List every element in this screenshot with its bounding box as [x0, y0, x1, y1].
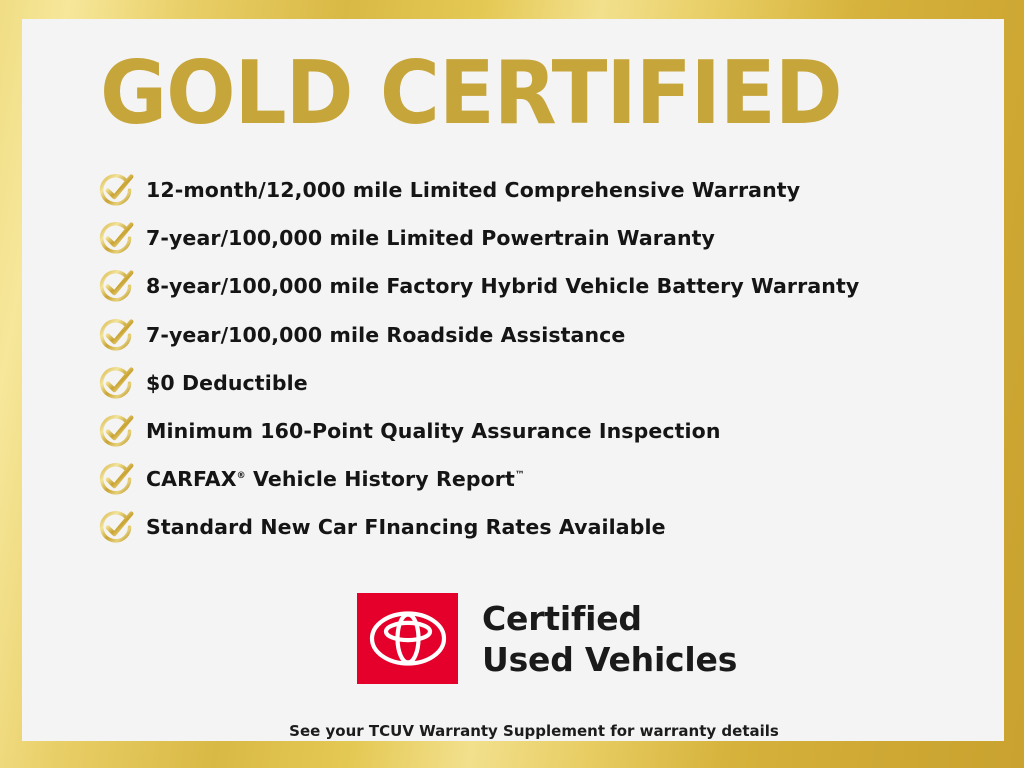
check-circle-icon [96, 507, 136, 547]
feature-row: $0 Deductible [96, 359, 996, 407]
check-circle-icon [96, 459, 136, 499]
toyota-wordmark: Certified Used Vehicles [482, 598, 737, 680]
feature-row: Minimum 160-Point Quality Assurance Insp… [96, 407, 996, 455]
check-circle-icon [96, 315, 136, 355]
page-title: GOLD CERTIFIED [100, 50, 988, 137]
feature-label: 12-month/12,000 mile Limited Comprehensi… [146, 178, 800, 202]
toyota-emblem-icon [357, 593, 458, 684]
feature-row: 7-year/100,000 mile Limited Powertrain W… [96, 214, 996, 262]
toyota-wordmark-line1: Certified [482, 598, 737, 639]
feature-label: Standard New Car FInancing Rates Availab… [146, 515, 666, 539]
certificate-panel: GOLD CERTIFIED 12-month/12,000 mile Limi… [22, 19, 1004, 741]
feature-row: CARFAX® Vehicle History Report™ [96, 455, 996, 503]
check-circle-icon [96, 363, 136, 403]
feature-list: 12-month/12,000 mile Limited Comprehensi… [96, 166, 996, 552]
feature-label: CARFAX® Vehicle History Report™ [146, 467, 525, 491]
toyota-wordmark-line2: Used Vehicles [482, 639, 737, 680]
gold-certified-certificate: GOLD CERTIFIED 12-month/12,000 mile Limi… [0, 0, 1024, 768]
feature-row: Standard New Car FInancing Rates Availab… [96, 503, 996, 551]
warranty-footnote: See your TCUV Warranty Supplement for wa… [22, 722, 1024, 740]
check-circle-icon [96, 411, 136, 451]
trademark-symbol: ™ [515, 470, 525, 481]
feature-row: 8-year/100,000 mile Factory Hybrid Vehic… [96, 262, 996, 310]
feature-row: 12-month/12,000 mile Limited Comprehensi… [96, 166, 996, 214]
check-circle-icon [96, 266, 136, 306]
feature-label: 7-year/100,000 mile Limited Powertrain W… [146, 226, 715, 250]
feature-label: Minimum 160-Point Quality Assurance Insp… [146, 419, 721, 443]
feature-label: 7-year/100,000 mile Roadside Assistance [146, 323, 625, 347]
toyota-certified-used-vehicles-lockup: Certified Used Vehicles [357, 593, 737, 684]
feature-label: 8-year/100,000 mile Factory Hybrid Vehic… [146, 274, 859, 298]
feature-label: $0 Deductible [146, 371, 308, 395]
feature-row: 7-year/100,000 mile Roadside Assistance [96, 311, 996, 359]
check-circle-icon [96, 218, 136, 258]
check-circle-icon [96, 170, 136, 210]
registered-trademark-symbol: ® [237, 471, 246, 481]
